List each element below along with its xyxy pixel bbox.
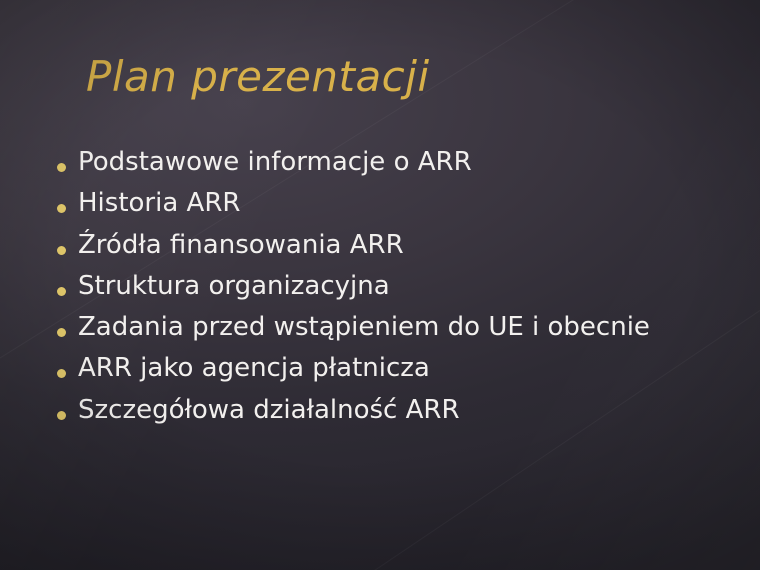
list-item: Zadania przed wstąpieniem do UE i obecni… — [44, 311, 716, 344]
slide-title: Plan prezentacji — [86, 52, 430, 101]
list-item: Struktura organizacyjna — [44, 270, 716, 303]
bullet-dot-icon — [44, 394, 78, 424]
list-item-label: ARR jako agencja płatnicza — [78, 352, 716, 385]
presentation-slide: Plan prezentacji Podstawowe informacje o… — [0, 0, 760, 570]
list-item-label: Historia ARR — [78, 187, 716, 220]
list-item-label: Szczegółowa działalność ARR — [78, 394, 716, 427]
bullet-dot-icon — [44, 187, 78, 217]
bullet-dot-icon — [44, 229, 78, 259]
list-item: Źródła finansowania ARR — [44, 229, 716, 262]
list-item: Podstawowe informacje o ARR — [44, 146, 716, 179]
list-item: ARR jako agencja płatnicza — [44, 352, 716, 385]
bullet-dot-icon — [44, 311, 78, 341]
list-item: Historia ARR — [44, 187, 716, 220]
list-item-label: Źródła finansowania ARR — [78, 229, 716, 262]
list-item: Szczegółowa działalność ARR — [44, 394, 716, 427]
bullet-dot-icon — [44, 270, 78, 300]
bullet-dot-icon — [44, 146, 78, 176]
list-item-label: Zadania przed wstąpieniem do UE i obecni… — [78, 311, 716, 344]
list-item-label: Podstawowe informacje o ARR — [78, 146, 716, 179]
bullet-dot-icon — [44, 352, 78, 382]
bullet-list: Podstawowe informacje o ARR Historia ARR… — [44, 146, 716, 435]
list-item-label: Struktura organizacyjna — [78, 270, 716, 303]
